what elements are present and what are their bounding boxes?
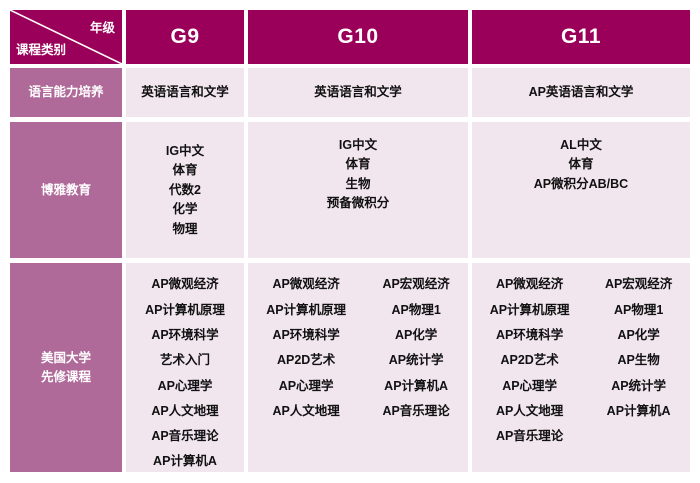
course-item: AL中文 [560,135,602,155]
row-label-language-line-1: 语言能力培养 [28,83,103,101]
course-item: AP英语语言和文学 [529,83,634,103]
course-item: 体育 [172,161,197,181]
course-item: 化学 [172,200,197,220]
course-item: AP统计学 [389,348,444,373]
course-item: 物理 [172,219,197,239]
corner-header-cell: 年级 课程类别 [10,10,122,64]
course-item: 代数2 [169,180,201,200]
course-item: AP微观经济 [151,272,218,297]
course-item: AP计算机原理 [490,297,570,322]
course-columns: AP微观经济 AP计算机原理 AP环境科学 AP2D艺术 AP心理学 AP人文地… [248,263,468,472]
cell-liberal-arts-g9: IG中文 体育 代数2 化学 物理 [126,122,244,258]
course-item: AP环境科学 [496,323,563,348]
course-list: AP微观经济 AP计算机原理 AP环境科学 艺术入门 AP心理学 AP人文地理 … [126,272,244,474]
cell-ap-g10: AP微观经济 AP计算机原理 AP环境科学 AP2D艺术 AP心理学 AP人文地… [248,263,468,472]
course-item: AP音乐理论 [382,398,449,423]
header-grade-g10: G10 [248,10,468,64]
course-list-left: AP微观经济 AP计算机原理 AP环境科学 AP2D艺术 AP心理学 AP人文地… [490,272,570,449]
header-grade-g9: G9 [126,10,244,64]
course-item: AP化学 [617,323,659,348]
row-label-liberal-arts: 博雅教育 [10,122,122,258]
course-item: 生物 [345,174,370,194]
course-item: AP计算机A [384,373,448,398]
course-list-left: AP微观经济 AP计算机原理 AP环境科学 AP2D艺术 AP心理学 AP人文地… [266,272,346,424]
cell-language-g11: AP英语语言和文学 [472,68,690,117]
cell-liberal-arts-g10: IG中文 体育 生物 预备微积分 [248,122,468,258]
course-item: AP微观经济 [272,272,339,297]
curriculum-table: 年级 课程类别 G9 G10 G11 语言能力培养 英语语言和文学 英语语言和文… [0,0,700,483]
corner-category-label: 课程类别 [16,39,66,58]
course-item: AP物理1 [614,297,663,322]
course-list: 英语语言和文学 [248,83,468,103]
course-item: AP宏观经济 [605,272,672,297]
course-item: AP计算机原理 [266,297,346,322]
cell-language-g9: 英语语言和文学 [126,68,244,117]
course-list-right: AP宏观经济 AP物理1 AP化学 AP生物 AP统计学 AP计算机A [605,272,672,424]
course-columns: AP微观经济 AP计算机原理 AP环境科学 AP2D艺术 AP心理学 AP人文地… [472,263,690,472]
cell-ap-g9: AP微观经济 AP计算机原理 AP环境科学 艺术入门 AP心理学 AP人文地理 … [126,263,244,472]
corner-grade-label: 年级 [90,17,115,36]
course-list: AL中文 体育 AP微积分AB/BC [472,135,690,194]
course-item: 英语语言和文学 [314,83,402,103]
row-label-ap-line-2: 先修课程 [41,368,91,386]
row-label-ap-courses: 美国大学 先修课程 [10,263,122,472]
course-item: 艺术入门 [160,348,210,373]
course-list: 英语语言和文学 [126,83,244,103]
course-item: AP化学 [395,323,437,348]
course-list: IG中文 体育 生物 预备微积分 [248,135,468,213]
course-item: AP计算机A [153,449,217,474]
cell-ap-g11: AP微观经济 AP计算机原理 AP环境科学 AP2D艺术 AP心理学 AP人文地… [472,263,690,472]
course-item: 体育 [568,155,593,175]
course-item: AP物理1 [391,297,440,322]
course-list: AP英语语言和文学 [472,83,690,103]
course-list-right: AP宏观经济 AP物理1 AP化学 AP统计学 AP计算机A AP音乐理论 [382,272,449,424]
course-item: AP微积分AB/BC [534,174,628,194]
course-item: AP人文地理 [272,398,339,423]
course-item: AP宏观经济 [382,272,449,297]
course-item: AP环境科学 [272,323,339,348]
course-list: IG中文 体育 代数2 化学 物理 [126,141,244,239]
course-item: AP微观经济 [496,272,563,297]
header-grade-g11: G11 [472,10,690,64]
course-item: AP人文地理 [151,398,218,423]
course-item: AP人文地理 [496,398,563,423]
course-item: 体育 [345,155,370,175]
course-item: AP生物 [617,348,659,373]
course-item: IG中文 [166,141,204,161]
course-item: AP统计学 [611,373,666,398]
cell-liberal-arts-g11: AL中文 体育 AP微积分AB/BC [472,122,690,258]
course-item: AP计算机A [607,398,671,423]
course-item: AP心理学 [502,373,557,398]
row-label-language: 语言能力培养 [10,68,122,117]
course-item: AP2D艺术 [277,348,335,373]
row-label-liberal-arts-line-1: 博雅教育 [41,181,91,199]
row-label-ap-line-1: 美国大学 [41,349,91,367]
cell-language-g10: 英语语言和文学 [248,68,468,117]
course-item: AP环境科学 [151,323,218,348]
course-item: AP心理学 [279,373,334,398]
course-item: AP心理学 [158,373,213,398]
course-item: AP音乐理论 [151,424,218,449]
course-item: 预备微积分 [327,194,390,214]
course-item: AP计算机原理 [145,297,225,322]
course-item: IG中文 [339,135,377,155]
course-item: AP2D艺术 [500,348,558,373]
course-item: AP音乐理论 [496,424,563,449]
course-item: 英语语言和文学 [141,83,229,103]
